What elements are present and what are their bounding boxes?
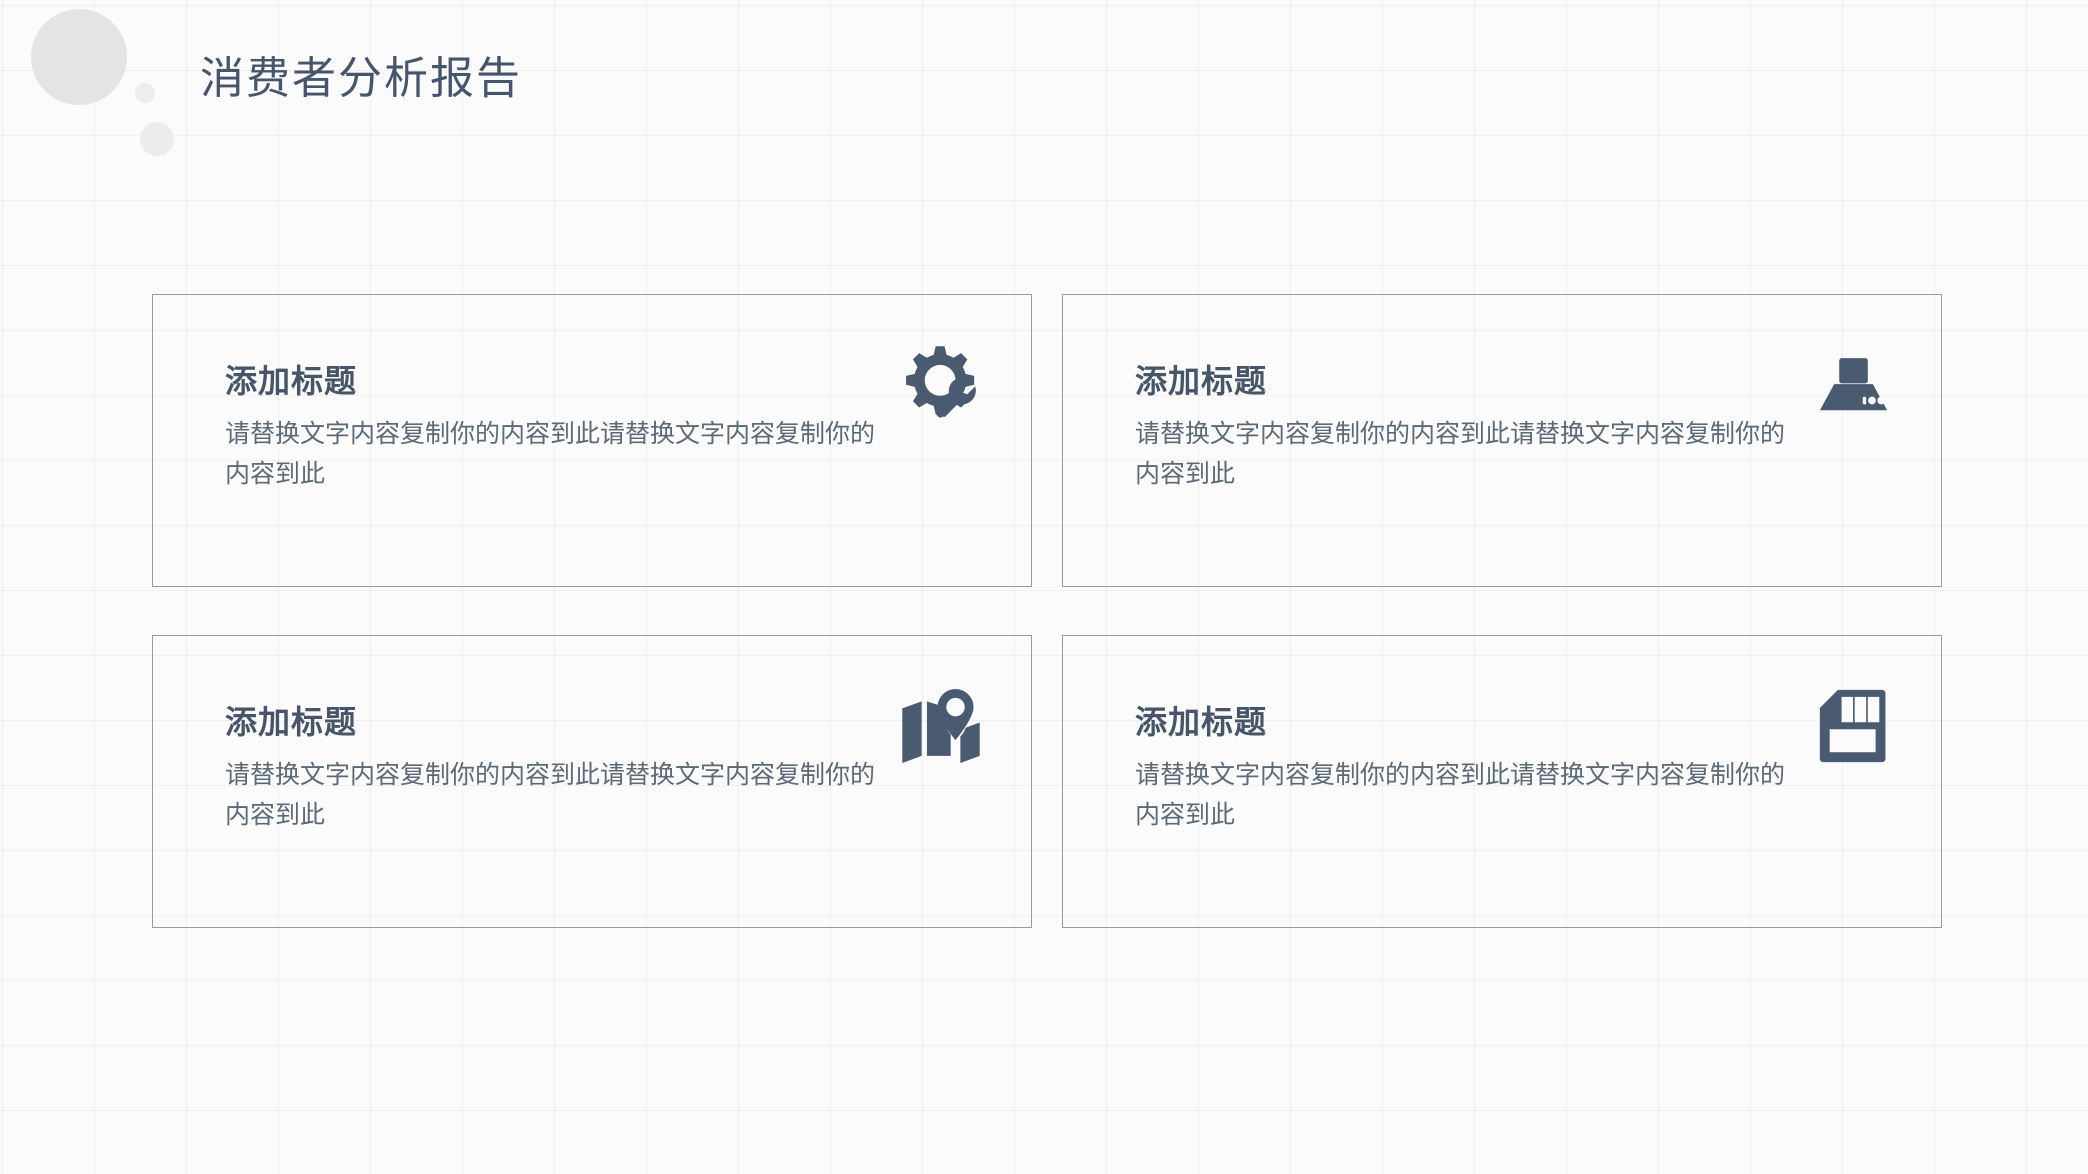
card-description: 请替换文字内容复制你的内容到此请替换文字内容复制你的内容到此 xyxy=(1135,414,1785,495)
slide-canvas: 消费者分析报告 添加标题 请替换文字内容复制你的内容到此请替换文字内容复制你的内… xyxy=(0,0,2088,1174)
card-title: 添加标题 xyxy=(1135,363,1795,400)
decorative-circle-medium xyxy=(140,122,174,156)
content-card[interactable]: 添加标题 请替换文字内容复制你的内容到此请替换文字内容复制你的内容到此 xyxy=(152,294,1032,587)
content-card[interactable]: 添加标题 请替换文字内容复制你的内容到此请替换文字内容复制你的内容到此 xyxy=(1062,294,1942,587)
card-body: 添加标题 请替换文字内容复制你的内容到此请替换文字内容复制你的内容到此 xyxy=(225,704,885,836)
decorative-circle-small xyxy=(135,83,155,103)
sd-card-icon xyxy=(1799,674,1903,778)
content-card[interactable]: 添加标题 请替换文字内容复制你的内容到此请替换文字内容复制你的内容到此 xyxy=(1062,635,1942,928)
decorative-circle-large xyxy=(31,9,127,105)
page-title: 消费者分析报告 xyxy=(200,42,522,106)
card-title: 添加标题 xyxy=(1135,704,1795,741)
card-body: 添加标题 请替换文字内容复制你的内容到此请替换文字内容复制你的内容到此 xyxy=(1135,704,1795,836)
card-description: 请替换文字内容复制你的内容到此请替换文字内容复制你的内容到此 xyxy=(225,414,875,495)
gear-wrench-icon xyxy=(889,333,993,437)
range-hood-icon xyxy=(1799,333,1903,437)
map-pin-icon xyxy=(889,674,993,778)
card-title: 添加标题 xyxy=(225,704,885,741)
card-body: 添加标题 请替换文字内容复制你的内容到此请替换文字内容复制你的内容到此 xyxy=(1135,363,1795,495)
content-card[interactable]: 添加标题 请替换文字内容复制你的内容到此请替换文字内容复制你的内容到此 xyxy=(152,635,1032,928)
card-description: 请替换文字内容复制你的内容到此请替换文字内容复制你的内容到此 xyxy=(225,755,875,836)
card-description: 请替换文字内容复制你的内容到此请替换文字内容复制你的内容到此 xyxy=(1135,755,1785,836)
card-body: 添加标题 请替换文字内容复制你的内容到此请替换文字内容复制你的内容到此 xyxy=(225,363,885,495)
card-title: 添加标题 xyxy=(225,363,885,400)
